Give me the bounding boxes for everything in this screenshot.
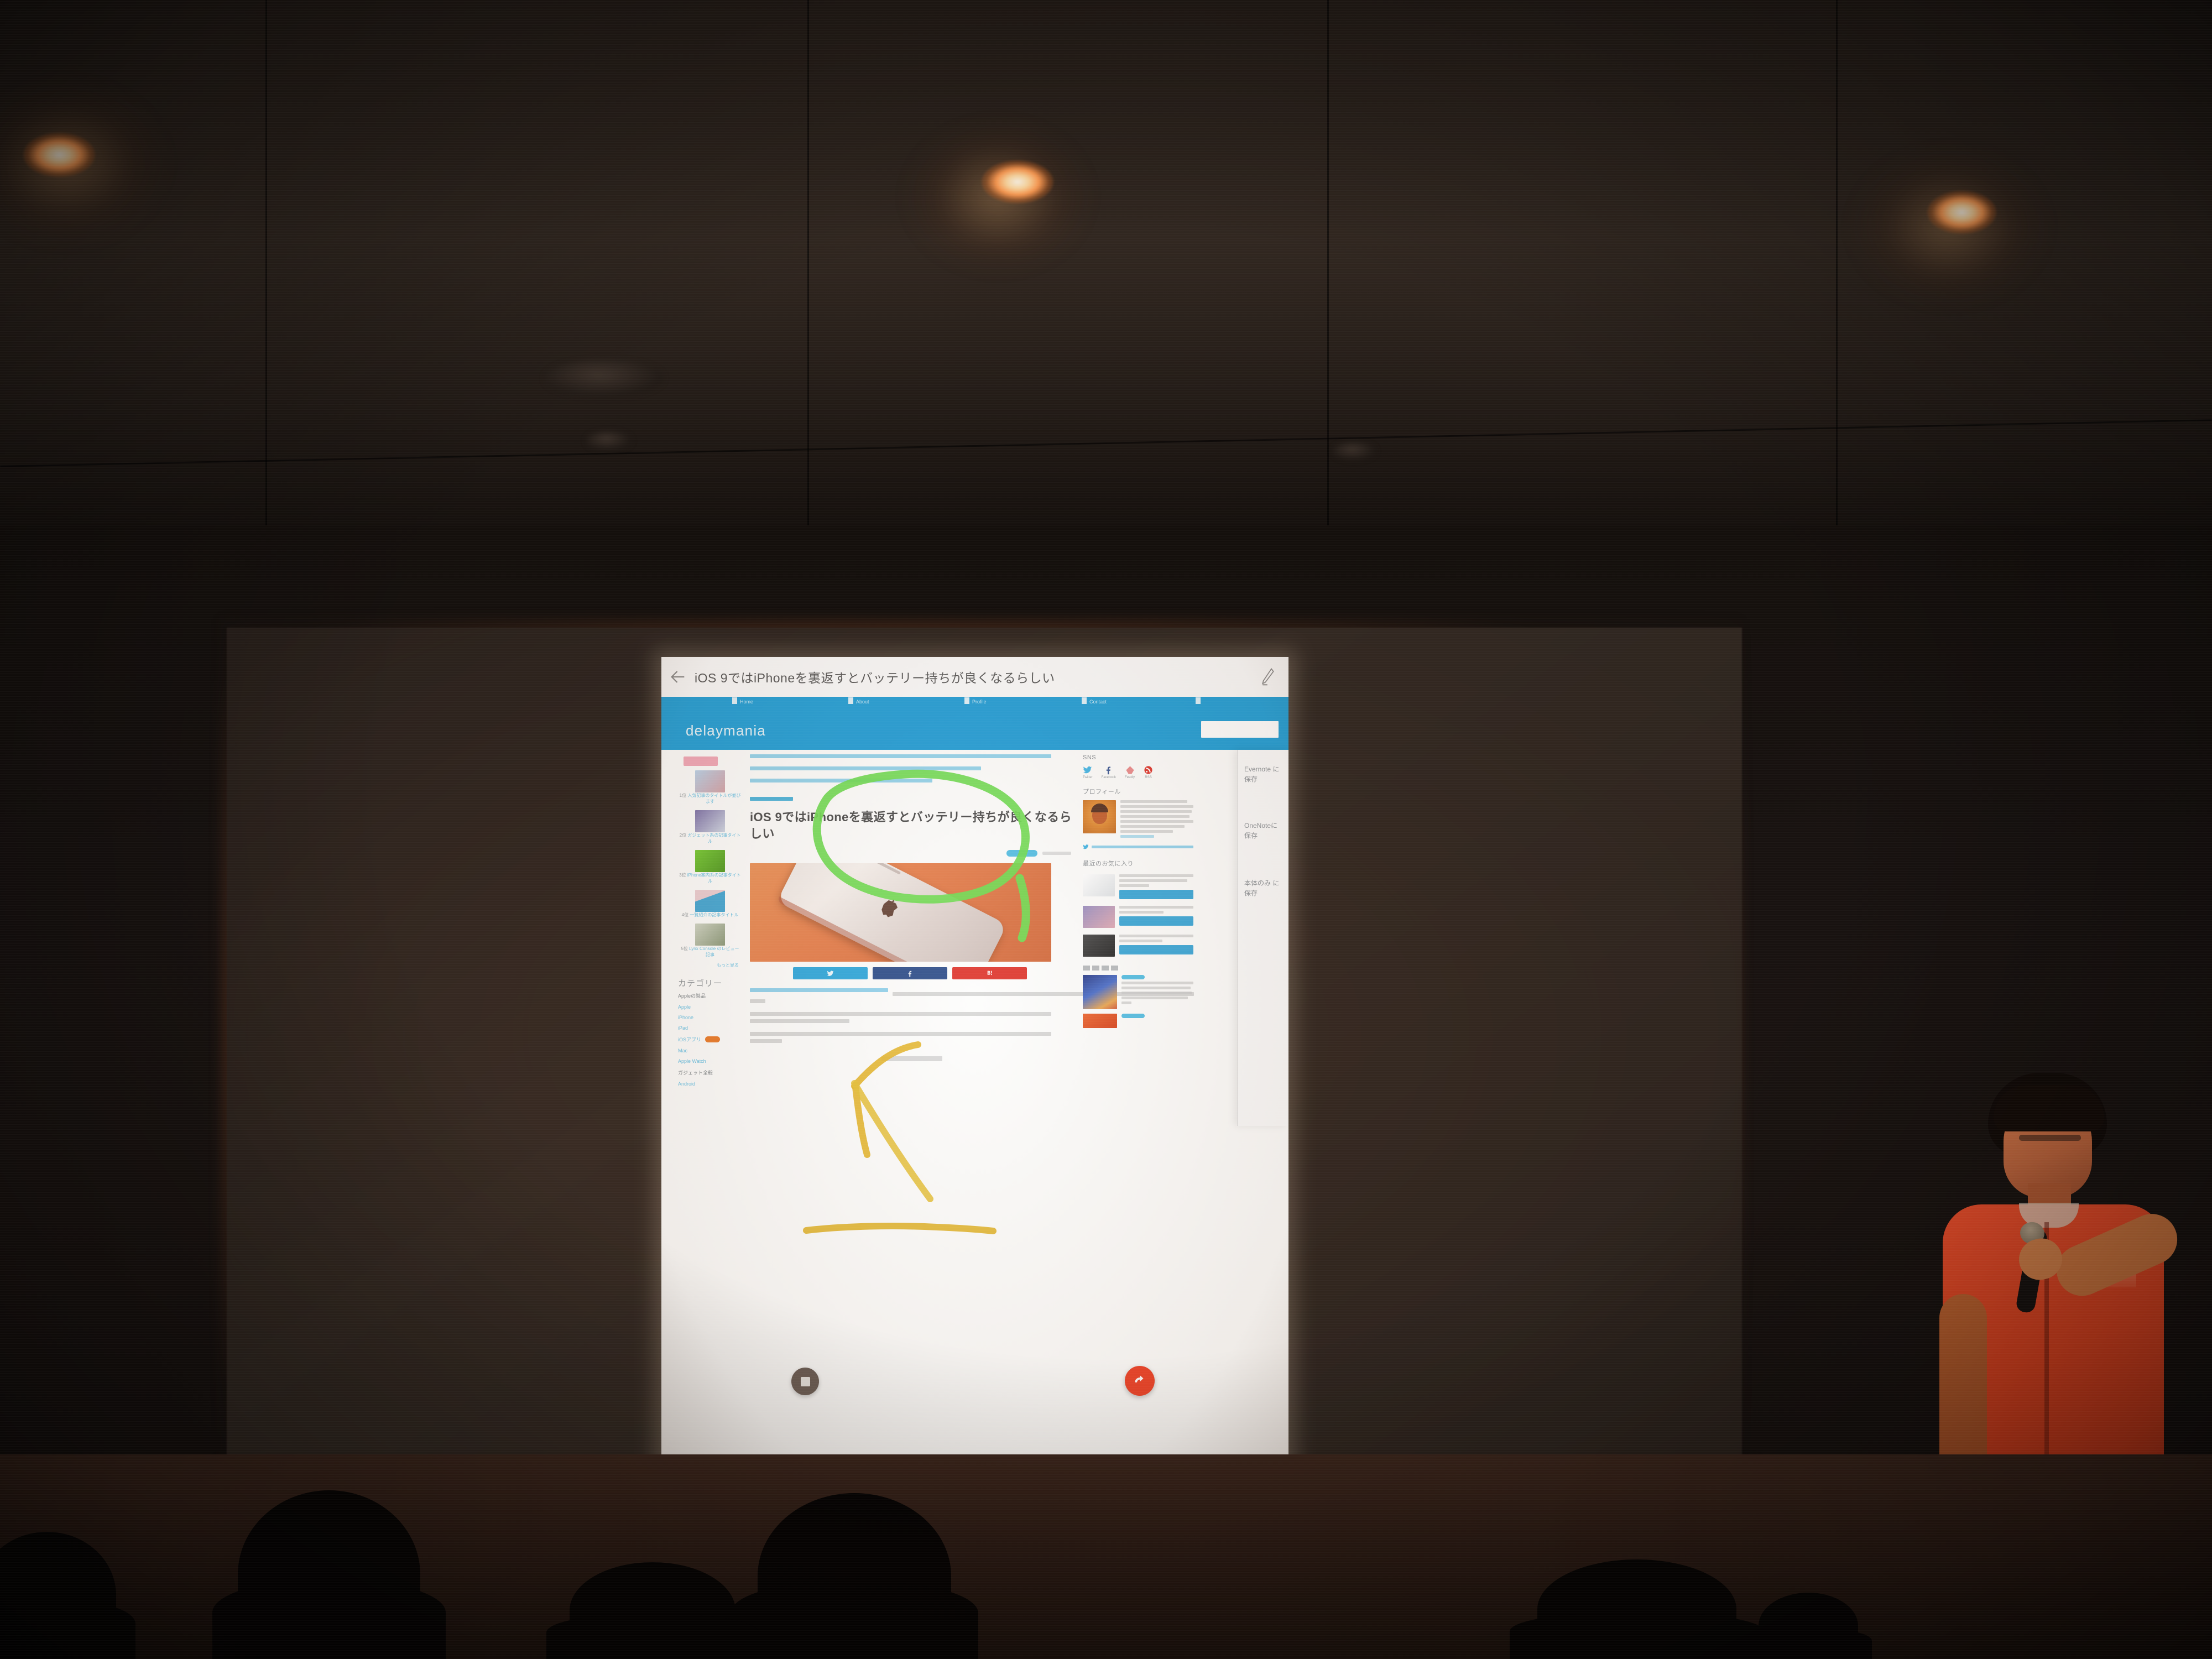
nav-item-1[interactable]: About	[856, 699, 869, 705]
list-item[interactable]: 3位 iPhone案内系の記事タイトル	[677, 850, 743, 884]
ceiling	[0, 0, 2212, 531]
amazon-buy-button[interactable]	[1119, 945, 1193, 954]
nav-item-3[interactable]: Contact	[1089, 699, 1107, 705]
audience-head	[1759, 1593, 1858, 1659]
article-title: iOS 9ではiPhoneを裏返すとバッテリー持ちが良くなるらしい	[750, 809, 1073, 842]
hatena-share-button[interactable]	[952, 967, 1027, 979]
list-item[interactable]: 1位 人気記事のタイトルが並びます	[677, 770, 743, 805]
ceiling-speaker-left	[545, 359, 664, 397]
rank-caption[interactable]: 人気記事のタイトルが並びます	[687, 793, 740, 804]
avatar	[1083, 800, 1116, 833]
tag-row[interactable]	[1083, 966, 1193, 971]
undo-arrow-icon	[1133, 1374, 1147, 1388]
presenter-hair	[1994, 1085, 2104, 1131]
ceiling-downlight-left	[23, 133, 95, 177]
show-more-link[interactable]: もっと見る	[677, 962, 739, 968]
rank-caption[interactable]: Lynx Console のレビュー記事	[689, 946, 739, 957]
product-thumbnail	[1083, 874, 1115, 896]
category-item[interactable]: iOSアプリ	[678, 1036, 743, 1043]
list-item[interactable]	[1083, 874, 1193, 899]
rank-label: 1位	[680, 793, 686, 798]
amazon-buy-button[interactable]	[1119, 890, 1193, 899]
ceiling-vent-right	[1333, 442, 1376, 460]
sns-heading: SNS	[1083, 754, 1193, 761]
article-meta	[750, 850, 1071, 857]
page-title: iOS 9ではiPhoneを裏返すとバッテリー持ちが良くなるらしい	[695, 667, 1248, 686]
ceiling-downlight-center	[982, 160, 1053, 204]
favorites-heading: 最近のお気に入り	[1083, 859, 1193, 868]
site-logo[interactable]: delaymania	[686, 722, 766, 739]
article-thumbnail	[1083, 975, 1117, 1009]
iphone-photo	[777, 863, 1007, 962]
ranking-badge	[684, 757, 718, 766]
amazon-buy-button[interactable]	[1119, 916, 1193, 926]
category-item[interactable]: Mac	[678, 1048, 743, 1053]
category-item[interactable]: Android	[678, 1081, 743, 1087]
article-category-tag[interactable]	[750, 797, 793, 801]
sns-icon-row: Twitter Facebook Feedly RSS	[1083, 765, 1193, 779]
left-sidebar: 1位 人気記事のタイトルが並びます 2位 ガジェット系の記事タイトル 3位 iP…	[677, 754, 743, 1092]
save-to-device-only[interactable]: 本体のみ に保存	[1244, 878, 1285, 898]
rank-label: 5位	[681, 946, 687, 951]
list-item[interactable]	[1083, 935, 1193, 957]
save-to-evernote[interactable]: Evernote に保存	[1244, 764, 1285, 784]
stop-button[interactable]	[791, 1368, 819, 1395]
new-badge	[1121, 1014, 1145, 1018]
list-item[interactable]: 4位 一覧紹介の記事タイトル	[677, 890, 743, 918]
site-header: delaymania	[661, 709, 1288, 750]
facebook-share-button[interactable]	[873, 967, 947, 979]
category-item[interactable]: iPad	[678, 1025, 743, 1031]
apple-logo-icon	[878, 896, 901, 920]
save-options-panel: Evernote に保存 OneNoteに 保存 本体のみ に保存	[1237, 750, 1288, 1126]
twitter-icon[interactable]: Twitter	[1083, 765, 1093, 779]
article-paragraph	[750, 1032, 1073, 1043]
article-paragraph	[750, 988, 1073, 1003]
search-input[interactable]	[1201, 721, 1279, 738]
twitter-share-button[interactable]	[793, 967, 868, 979]
category-item[interactable]: ガジェット全般	[678, 1069, 743, 1076]
article-credit	[881, 1056, 942, 1061]
projected-app-screen: iOS 9ではiPhoneを裏返すとバッテリー持ちが良くなるらしい Home A…	[661, 657, 1288, 1477]
undo-button[interactable]	[1125, 1366, 1155, 1396]
right-sidebar: SNS Twitter Facebook Feedly RSS	[1083, 754, 1193, 1028]
rss-icon[interactable]: RSS	[1144, 765, 1153, 779]
nav-item-0[interactable]: Home	[740, 699, 753, 705]
article-hero-image	[750, 863, 1051, 962]
category-item[interactable]: Apple Watch	[678, 1058, 743, 1064]
list-item[interactable]	[1083, 1014, 1193, 1028]
rank-label: 3位	[679, 873, 686, 878]
category-item[interactable]: Appleの製品	[678, 992, 743, 999]
list-item[interactable]	[1083, 906, 1193, 928]
feedly-icon[interactable]: Feedly	[1125, 765, 1135, 779]
share-button-row	[793, 967, 1073, 979]
auditorium-room: iOS 9ではiPhoneを裏返すとバッテリー持ちが良くなるらしい Home A…	[0, 0, 2212, 1659]
stop-square-icon	[801, 1377, 810, 1386]
status-badge	[1006, 850, 1037, 857]
rank-label: 2位	[680, 833, 686, 838]
pencil-edit-icon[interactable]	[1248, 657, 1288, 697]
rank-label: 4位	[682, 912, 688, 917]
rank-caption[interactable]: 一覧紹介の記事タイトル	[690, 912, 738, 917]
category-item[interactable]: iPhone	[678, 1015, 743, 1020]
rank-caption[interactable]: iPhone案内系の記事タイトル	[687, 873, 741, 884]
list-item[interactable]	[1083, 975, 1193, 1009]
ceiling-downlight-right	[1927, 191, 1996, 234]
category-item[interactable]: Apple	[678, 1004, 743, 1010]
profile-heading: プロフィール	[1083, 787, 1193, 796]
article-thumbnail	[1083, 1014, 1117, 1028]
rank-caption[interactable]: ガジェット系の記事タイトル	[687, 833, 740, 844]
category-heading: カテゴリー	[678, 977, 743, 989]
ceiling-vent-center	[586, 431, 632, 450]
back-arrow-icon[interactable]	[661, 657, 695, 697]
app-header-bar: iOS 9ではiPhoneを裏返すとバッテリー持ちが良くなるらしい	[661, 657, 1288, 697]
audience-head	[1537, 1559, 1736, 1659]
related-link[interactable]	[750, 754, 1051, 758]
page-body: 1位 人気記事のタイトルが並びます 2位 ガジェット系の記事タイトル 3位 iP…	[661, 750, 1288, 1477]
related-link[interactable]	[750, 779, 932, 782]
related-link[interactable]	[750, 766, 981, 770]
nav-item-2[interactable]: Profile	[972, 699, 987, 705]
article-paragraph	[750, 1012, 1073, 1023]
product-thumbnail	[1083, 935, 1115, 957]
twitter-follow-link[interactable]	[1083, 844, 1193, 850]
list-item[interactable]: 5位 Lynx Console のレビュー記事	[677, 924, 743, 958]
site-nav-strip[interactable]: Home About Profile Contact	[661, 697, 1288, 709]
facebook-icon[interactable]: Facebook	[1102, 765, 1116, 779]
new-badge	[1121, 975, 1145, 979]
category-badge	[705, 1036, 720, 1042]
article-column: iOS 9ではiPhoneを裏返すとバッテリー持ちが良くなるらしい	[750, 754, 1073, 1061]
profile-text	[1120, 800, 1193, 840]
save-to-onenote[interactable]: OneNoteに 保存	[1244, 821, 1285, 841]
audience-head	[758, 1493, 951, 1659]
article-date	[1042, 852, 1071, 855]
profile-block	[1083, 800, 1193, 840]
glasses-icon	[2019, 1135, 2081, 1141]
product-thumbnail	[1083, 906, 1115, 928]
list-item[interactable]: 2位 ガジェット系の記事タイトル	[677, 810, 743, 844]
audience-head	[238, 1490, 420, 1659]
audience-head	[570, 1562, 735, 1659]
